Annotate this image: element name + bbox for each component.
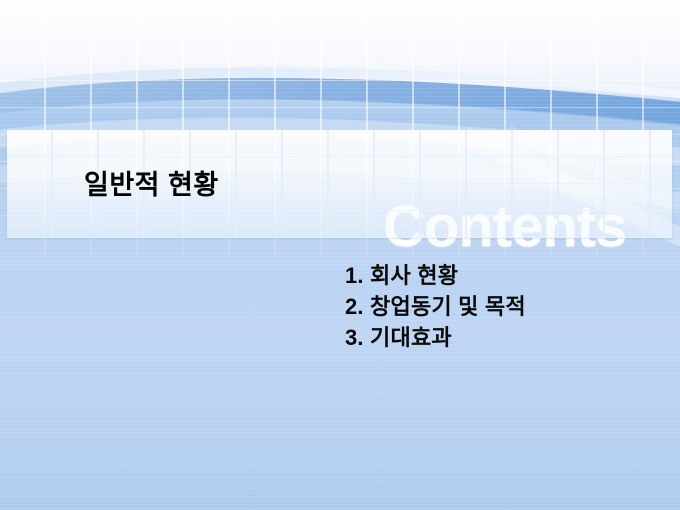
page-title: 일반적 현황 — [84, 163, 219, 202]
list-item[interactable]: 2. 창업동기 및 목적 — [345, 291, 526, 322]
contents-list: 1. 회사 현황 2. 창업동기 및 목적 3. 기대효과 — [345, 260, 526, 353]
presentation-slide: Contents 일반적 현황 1. 회사 현황 2. 창업동기 및 목적 3.… — [0, 0, 680, 510]
list-item[interactable]: 1. 회사 현황 — [345, 260, 526, 291]
list-item[interactable]: 3. 기대효과 — [345, 322, 526, 353]
